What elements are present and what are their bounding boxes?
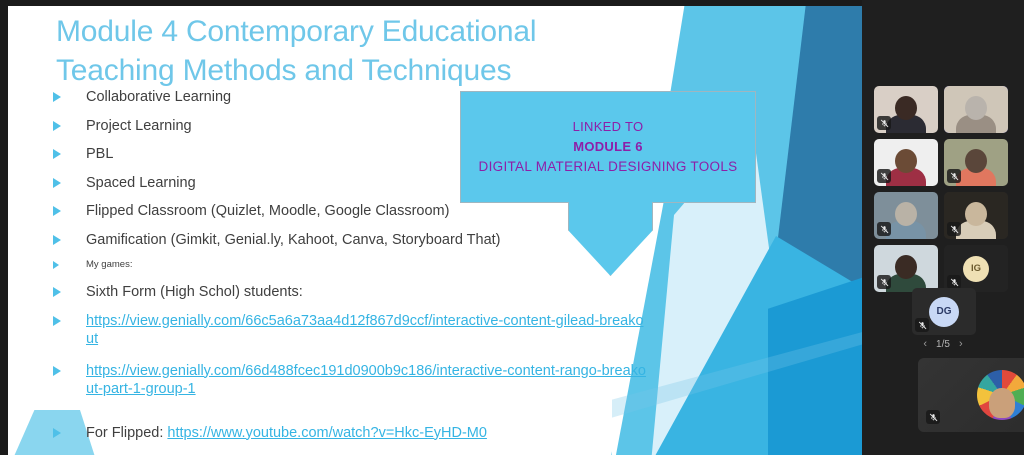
youtube-hyperlink[interactable]: https://www.youtube.com/watch?v=Hkc-EyHD…	[167, 425, 487, 441]
participant-head	[895, 255, 917, 279]
bullet-triangle-icon	[53, 261, 59, 269]
participant-tile-2[interactable]	[944, 86, 1008, 133]
bullet-triangle-icon	[53, 366, 61, 376]
mic-muted-icon	[947, 222, 961, 236]
slide-hyperlink[interactable]: https://view.genially.com/66c5a6a73aa4d1…	[86, 313, 644, 347]
slide-title: Module 4 Contemporary Educational Teachi…	[56, 12, 656, 90]
slide-bullet-text: Sixth Form (High Schol) students:	[86, 284, 303, 300]
participant-tile-dg[interactable]: DG	[912, 288, 976, 335]
slide-bullet-text: Spaced Learning	[86, 175, 196, 191]
callout-line-3: DIGITAL MATERIAL DESIGNING TOOLS	[479, 157, 738, 177]
for-flipped-label: For Flipped:	[86, 425, 167, 441]
slide-bullet-text: Flipped Classroom (Quizlet, Moodle, Goog…	[86, 203, 449, 219]
slide-bullet-text: Gamification (Gimkit, Genial.ly, Kahoot,…	[86, 232, 501, 248]
bullet-triangle-icon	[53, 235, 61, 245]
avatar: DG	[929, 297, 959, 327]
tile-pager: ‹ 1/5 ›	[862, 338, 1024, 350]
mic-muted-icon	[877, 116, 891, 130]
participant-tile-3[interactable]	[874, 139, 938, 186]
slide-bullet-text: PBL	[86, 146, 113, 162]
mic-muted-icon	[926, 410, 940, 424]
participant-tile-1[interactable]	[874, 86, 938, 133]
pager-prev-icon[interactable]: ‹	[923, 338, 927, 350]
slide-bullet[interactable]: https://view.genially.com/66c5a6a73aa4d1…	[48, 312, 648, 348]
slide-bullet-for-flipped[interactable]: For Flipped: https://www.youtube.com/wat…	[48, 424, 648, 442]
callout-line-2: MODULE 6	[573, 137, 643, 157]
bullet-triangle-icon	[53, 287, 61, 297]
presenter-tile[interactable]	[918, 358, 1024, 432]
participant-tile-4[interactable]	[944, 139, 1008, 186]
participant-head	[965, 202, 987, 226]
slide-bullet-text: Collaborative Learning	[86, 89, 231, 105]
bullet-triangle-icon	[53, 92, 61, 102]
bullet-triangle-icon	[53, 206, 61, 216]
pager-label: 1/5	[936, 339, 950, 350]
participant-tile-5[interactable]	[874, 192, 938, 239]
bullet-triangle-icon	[53, 178, 61, 188]
slide-hyperlink[interactable]: https://view.genially.com/66d488fcec191d…	[86, 363, 646, 397]
mic-muted-icon	[947, 275, 961, 289]
pager-next-icon[interactable]: ›	[959, 338, 963, 350]
slide-bullet-text: Project Learning	[86, 118, 192, 134]
mic-muted-icon	[915, 318, 929, 332]
slide-bullet[interactable]: https://view.genially.com/66d488fcec191d…	[48, 362, 648, 398]
participant-head	[895, 96, 917, 120]
participant-head	[965, 96, 987, 120]
participant-head	[895, 202, 917, 226]
slide-bullet-text: My games:	[86, 259, 132, 270]
avatar: IG	[963, 256, 989, 282]
slide-title-line-1: Module 4 Contemporary Educational	[56, 12, 656, 51]
participant-video-rail: IG DG ‹ 1/5 ›	[862, 0, 1024, 455]
mic-muted-icon	[877, 169, 891, 183]
slide-bullet: Gamification (Gimkit, Genial.ly, Kahoot,…	[48, 231, 648, 249]
meeting-screen-share-view: Module 4 Contemporary Educational Teachi…	[0, 0, 1024, 455]
participant-head	[895, 149, 917, 173]
bullet-triangle-icon	[53, 316, 61, 326]
participant-head	[965, 149, 987, 173]
slide-bullet: My games:	[48, 259, 648, 271]
slide-title-line-2: Teaching Methods and Techniques	[56, 51, 656, 90]
participant-tile-grid: IG	[874, 86, 1024, 292]
participant-tile-6[interactable]	[944, 192, 1008, 239]
mic-muted-icon	[947, 169, 961, 183]
shared-slide[interactable]: Module 4 Contemporary Educational Teachi…	[8, 6, 862, 455]
bullet-triangle-icon	[53, 149, 61, 159]
bullet-triangle-icon	[53, 428, 61, 438]
callout-line-1: LINKED TO	[573, 117, 644, 137]
presenter-avatar	[977, 370, 1024, 420]
participant-tile-7[interactable]	[874, 245, 938, 292]
mic-muted-icon	[877, 275, 891, 289]
participant-tile-8[interactable]: IG	[944, 245, 1008, 292]
slide-bullet: Flipped Classroom (Quizlet, Moodle, Goog…	[48, 202, 648, 220]
bullet-triangle-icon	[53, 121, 61, 131]
mic-muted-icon	[877, 222, 891, 236]
slide-bullet: Sixth Form (High Schol) students:	[48, 283, 648, 301]
presenter-face	[989, 388, 1015, 418]
callout-box: LINKED TO MODULE 6 DIGITAL MATERIAL DESI…	[460, 91, 756, 203]
